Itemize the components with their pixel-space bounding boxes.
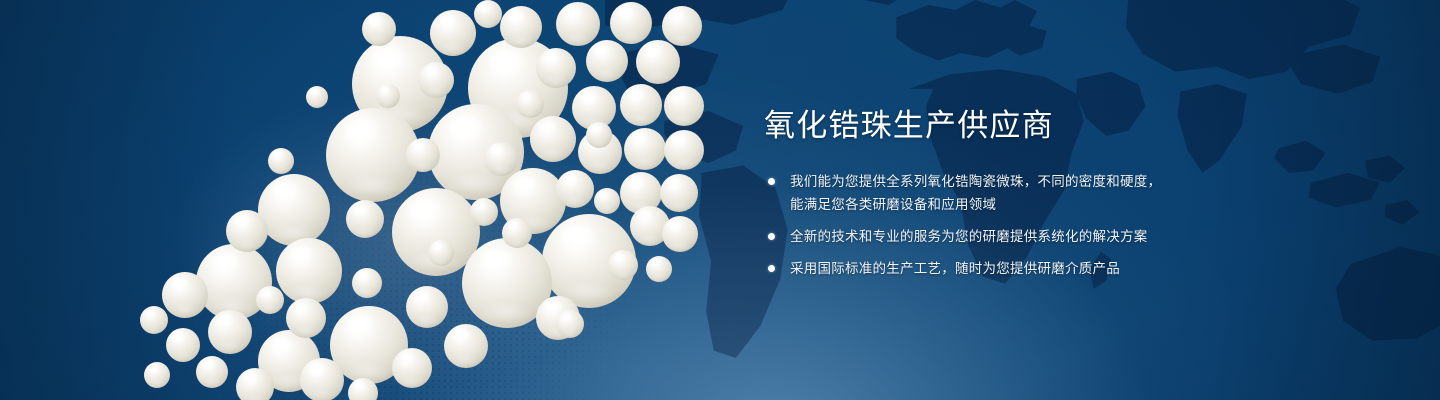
list-item: 采用国际标准的生产工艺，随时为您提供研磨介质产品 xyxy=(764,257,1234,280)
dot-bullet-icon xyxy=(768,178,775,185)
list-item-line: 能满足您各类研磨设备和应用领域 xyxy=(790,193,1234,216)
feature-list: 我们能为您提供全系列氧化锆陶瓷微珠，不同的密度和硬度， 能满足您各类研磨设备和应… xyxy=(764,170,1234,280)
zirconia-beads-cluster xyxy=(0,0,720,400)
list-item-line: 采用国际标准的生产工艺，随时为您提供研磨介质产品 xyxy=(790,257,1234,280)
list-item: 我们能为您提供全系列氧化锆陶瓷微珠，不同的密度和硬度， 能满足您各类研磨设备和应… xyxy=(764,170,1234,216)
banner-text-block: 氧化锆珠生产供应商 我们能为您提供全系列氧化锆陶瓷微珠，不同的密度和硬度， 能满… xyxy=(764,108,1234,280)
list-item: 全新的技术和专业的服务为您的研磨提供系统化的解决方案 xyxy=(764,225,1234,248)
list-item-line: 全新的技术和专业的服务为您的研磨提供系统化的解决方案 xyxy=(790,225,1234,248)
list-item-line: 我们能为您提供全系列氧化锆陶瓷微珠，不同的密度和硬度， xyxy=(790,170,1234,193)
banner-headline: 氧化锆珠生产供应商 xyxy=(764,108,1234,144)
dot-bullet-icon xyxy=(768,233,775,240)
dot-bullet-icon xyxy=(768,265,775,272)
promo-banner: 氧化锆珠生产供应商 我们能为您提供全系列氧化锆陶瓷微珠，不同的密度和硬度， 能满… xyxy=(0,0,1440,400)
